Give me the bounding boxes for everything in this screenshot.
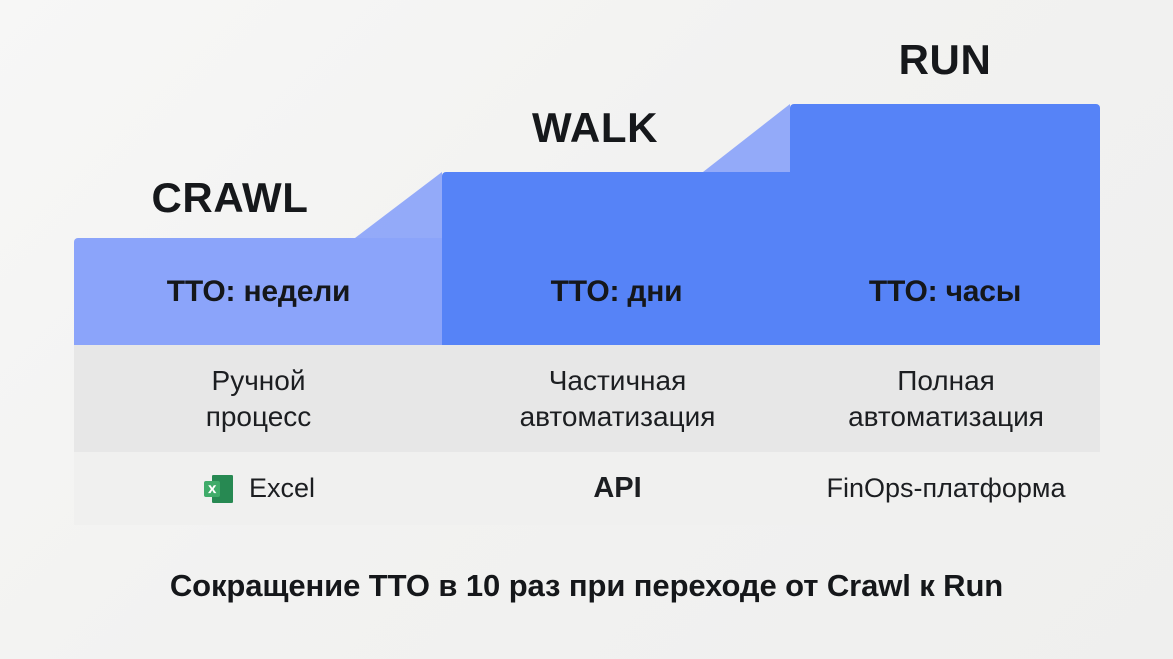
bar-walk[interactable]: TTO: дни xyxy=(442,172,791,345)
stage-label-crawl: CRAWL xyxy=(74,174,386,222)
automation-label-run: Полная автоматизация xyxy=(848,363,1044,435)
cell-tool-crawl: Excel xyxy=(74,452,443,525)
bar-crawl[interactable]: TTO: недели xyxy=(74,238,443,345)
cell-automation-run: Полная автоматизация xyxy=(792,345,1100,452)
stage-label-walk: WALK xyxy=(430,104,760,152)
comparison-panel: Ручной процесс Частичная автоматизация П… xyxy=(74,345,1100,525)
automation-label-crawl: Ручной процесс xyxy=(206,363,312,435)
tool-crawl: Excel xyxy=(202,472,315,506)
bar-run-tto: TTO: часы xyxy=(869,275,1021,345)
infographic-root: CRAWL WALK RUN TTO: недели TTO: дни TTO:… xyxy=(0,0,1173,659)
bar-run[interactable]: TTO: часы xyxy=(790,104,1100,345)
bar-walk-tto: TTO: дни xyxy=(551,275,683,345)
tool-label-crawl: Excel xyxy=(249,473,315,504)
cell-tool-walk: API xyxy=(443,452,792,525)
cell-automation-crawl: Ручной процесс xyxy=(74,345,443,452)
automation-label-walk: Частичная автоматизация xyxy=(520,363,716,435)
tool-label-run: FinOps-платформа xyxy=(826,473,1065,504)
cell-automation-walk: Частичная автоматизация xyxy=(443,345,792,452)
cell-tool-run: FinOps-платформа xyxy=(792,452,1100,525)
row-automation-level: Ручной процесс Частичная автоматизация П… xyxy=(74,345,1100,452)
tool-label-walk: API xyxy=(593,472,641,505)
summary-caption: Сокращение TTO в 10 раз при переходе от … xyxy=(0,568,1173,604)
excel-icon xyxy=(202,472,236,506)
maturity-staircase-chart: CRAWL WALK RUN TTO: недели TTO: дни TTO:… xyxy=(0,0,1173,345)
stage-label-run: RUN xyxy=(790,36,1100,84)
row-tooling: Excel API FinOps-платформа xyxy=(74,452,1100,525)
bar-crawl-tto: TTO: недели xyxy=(167,275,351,345)
